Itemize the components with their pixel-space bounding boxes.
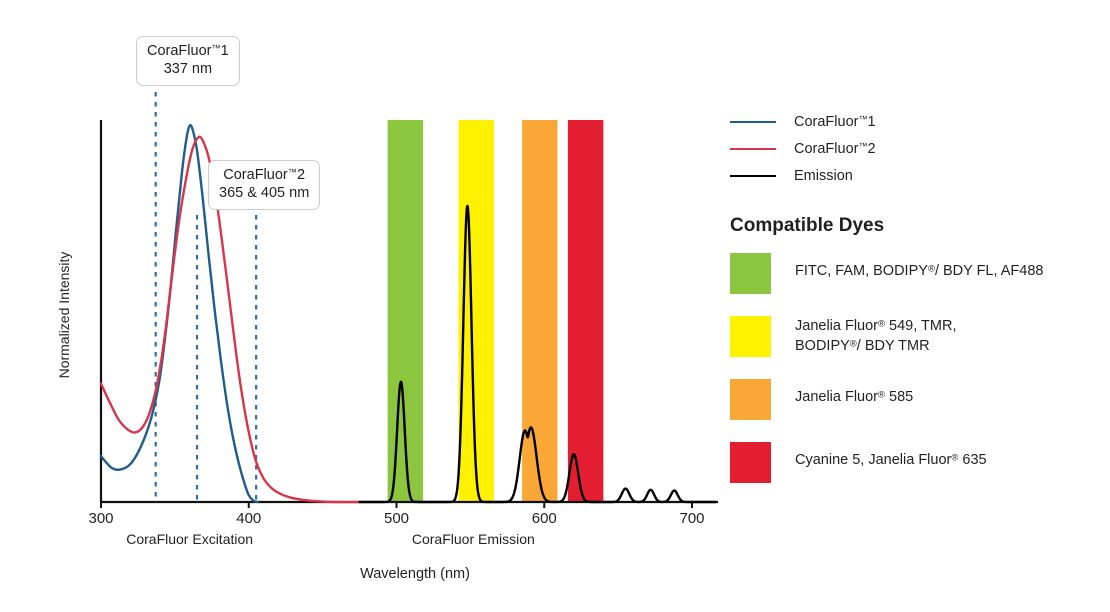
callout-cf2-line2: 365 & 405 nm — [219, 185, 309, 203]
trademark-icon: ™ — [211, 43, 220, 53]
legend-line-swatch — [730, 148, 776, 150]
x-axis-title: Wavelength (nm) — [0, 566, 830, 582]
compatible-dyes-heading: Compatible Dyes — [730, 215, 1100, 237]
legend-panel: CoraFluor™1CoraFluor™2Emission Compatibl… — [730, 108, 1100, 505]
dye-label-line: Cyanine 5, Janelia Fluor® 635 — [795, 451, 987, 471]
dye-label: Cyanine 5, Janelia Fluor® 635 — [795, 442, 987, 471]
registered-trademark-icon: ® — [951, 452, 958, 463]
callout-corafluor-1: CoraFluor™1 337 nm — [136, 36, 240, 86]
registered-trademark-icon: ® — [878, 389, 885, 400]
registered-trademark-icon: ® — [878, 318, 885, 329]
dye-color-swatch — [730, 253, 771, 294]
registered-trademark-icon: ® — [850, 338, 857, 349]
orange-band — [522, 120, 557, 502]
region-label-excitation: CoraFluor Excitation — [60, 531, 320, 547]
x-axis-tick-label: 400 — [219, 510, 279, 527]
dye-label-line: BODIPY®/ BDY TMR — [795, 337, 956, 357]
dye-label: Janelia Fluor® 549, TMR,BODIPY®/ BDY TMR — [795, 316, 956, 356]
dye-label-line: Janelia Fluor® 549, TMR, — [795, 317, 956, 337]
dye-label-line: FITC, FAM, BODIPY®/ BDY FL, AF488 — [795, 262, 1043, 282]
dye-legend-item[interactable]: FITC, FAM, BODIPY®/ BDY FL, AF488 — [730, 253, 1100, 294]
dye-color-swatch — [730, 442, 771, 483]
spectra-figure: CoraFluor™1 337 nm CoraFluor™2 365 & 405… — [0, 0, 1110, 612]
legend-line-item[interactable]: Emission — [730, 162, 1100, 189]
callout-cf1-line1: CoraFluor™1 — [147, 43, 229, 61]
red-band — [568, 120, 603, 502]
line-legend: CoraFluor™1CoraFluor™2Emission — [730, 108, 1100, 189]
trademark-icon: ™ — [858, 114, 867, 124]
region-label-emission: CoraFluor Emission — [343, 531, 603, 547]
callout-cf2-line1: CoraFluor™2 — [219, 167, 309, 185]
x-axis-tick-label: 300 — [71, 510, 131, 527]
dye-label: Janelia Fluor® 585 — [795, 379, 913, 408]
registered-trademark-icon: ® — [928, 263, 935, 274]
legend-line-label: Emission — [794, 168, 853, 184]
trademark-icon: ™ — [858, 141, 867, 151]
dye-color-swatch — [730, 379, 771, 420]
dye-label: FITC, FAM, BODIPY®/ BDY FL, AF488 — [795, 253, 1043, 282]
legend-line-item[interactable]: CoraFluor™1 — [730, 108, 1100, 135]
dye-label-line: Janelia Fluor® 585 — [795, 388, 913, 408]
x-axis-tick-label: 500 — [367, 510, 427, 527]
legend-line-swatch — [730, 121, 776, 123]
legend-line-swatch — [730, 175, 776, 177]
callout-corafluor-2: CoraFluor™2 365 & 405 nm — [208, 160, 320, 210]
x-axis-tick-label: 600 — [514, 510, 574, 527]
callout-cf1-line2: 337 nm — [147, 61, 229, 79]
compatible-dyes-legend: FITC, FAM, BODIPY®/ BDY FL, AF488Janelia… — [730, 253, 1100, 483]
legend-line-label: CoraFluor™2 — [794, 141, 876, 157]
dye-color-swatch — [730, 316, 771, 357]
legend-line-item[interactable]: CoraFluor™2 — [730, 135, 1100, 162]
dye-legend-item[interactable]: Janelia Fluor® 549, TMR,BODIPY®/ BDY TMR — [730, 316, 1100, 357]
trademark-icon: ™ — [288, 167, 297, 177]
x-axis-tick-label: 700 — [662, 510, 722, 527]
dye-legend-item[interactable]: Janelia Fluor® 585 — [730, 379, 1100, 420]
dye-legend-item[interactable]: Cyanine 5, Janelia Fluor® 635 — [730, 442, 1100, 483]
y-axis-title: Normalized Intensity — [56, 215, 72, 415]
legend-line-label: CoraFluor™1 — [794, 114, 876, 130]
